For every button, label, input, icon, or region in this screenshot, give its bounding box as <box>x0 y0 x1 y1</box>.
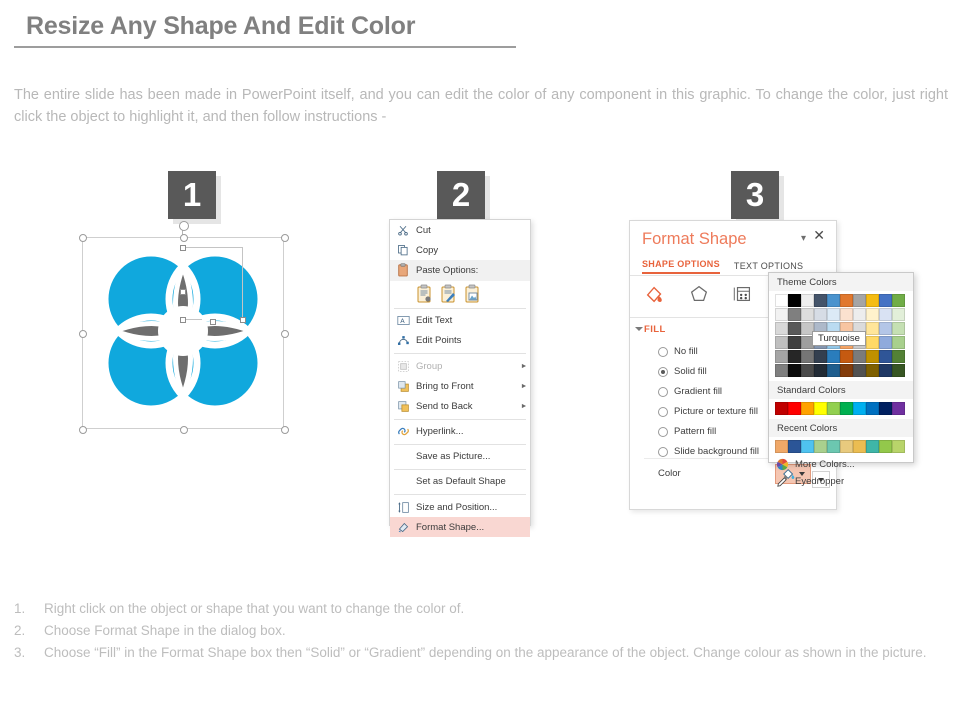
resize-handle-sw[interactable] <box>79 426 87 434</box>
theme-color-swatch[interactable] <box>879 308 892 321</box>
menu-divider <box>394 419 526 420</box>
recent-color-swatch[interactable] <box>879 440 892 453</box>
fill-option-label: Pattern fill <box>674 426 716 437</box>
standard-color-swatch[interactable] <box>840 402 853 415</box>
menu-divider <box>394 308 526 309</box>
resize-handle-nw[interactable] <box>79 234 87 242</box>
chevron-right-icon: ► <box>518 403 530 410</box>
send-to-back-icon <box>390 396 416 416</box>
edit-points-icon <box>390 331 416 351</box>
paste-options-icon-row[interactable] <box>390 281 530 306</box>
adjust-guide-right <box>242 247 243 319</box>
selected-shape-area[interactable] <box>82 237 284 429</box>
menu-item-size-and-position[interactable]: Size and Position... <box>390 497 530 517</box>
format-shape-icon <box>390 517 416 537</box>
menu-item-label: Hyperlink... <box>416 426 530 437</box>
radio-icon[interactable] <box>658 347 668 357</box>
fill-and-line-icon[interactable] <box>644 283 666 310</box>
eyedropper-item[interactable]: Eyedropper <box>769 473 913 490</box>
paste-picture-icon[interactable] <box>464 284 481 303</box>
menu-divider <box>394 494 526 495</box>
standard-color-swatch[interactable] <box>892 402 905 415</box>
theme-color-swatch[interactable] <box>892 336 905 349</box>
eyedropper-label: Eyedropper <box>795 476 844 487</box>
menu-item-send-to-back[interactable]: Send to Back ► <box>390 396 530 416</box>
adjust-handle-center[interactable] <box>180 317 186 323</box>
theme-color-swatch[interactable] <box>814 364 827 377</box>
resize-handle-e[interactable] <box>281 330 289 338</box>
radio-icon[interactable] <box>658 387 668 397</box>
copy-icon <box>390 240 416 260</box>
theme-color-swatch[interactable] <box>853 294 866 307</box>
radio-icon-selected[interactable] <box>658 367 668 377</box>
instruction-item: 2. Choose Format Shape in the dialog box… <box>14 620 944 642</box>
theme-color-swatch[interactable] <box>801 350 814 363</box>
menu-item-label: Send to Back <box>416 401 518 412</box>
recent-color-swatch[interactable] <box>788 440 801 453</box>
standard-color-swatch[interactable] <box>788 402 801 415</box>
standard-color-swatch[interactable] <box>827 402 840 415</box>
size-and-properties-icon[interactable] <box>732 283 754 310</box>
theme-color-swatch[interactable] <box>827 364 840 377</box>
size-position-icon <box>390 497 416 517</box>
theme-color-swatch[interactable] <box>801 308 814 321</box>
theme-colors-header: Theme Colors <box>769 273 913 291</box>
resize-handle-se[interactable] <box>281 426 289 434</box>
theme-color-swatch[interactable] <box>788 294 801 307</box>
recent-color-swatch[interactable] <box>814 440 827 453</box>
recent-color-swatch[interactable] <box>775 440 788 453</box>
no-icon <box>390 472 416 492</box>
effects-icon[interactable] <box>688 283 710 310</box>
theme-color-swatch[interactable] <box>879 350 892 363</box>
theme-color-swatch[interactable] <box>801 364 814 377</box>
color-tooltip: Turquoise <box>812 331 866 346</box>
menu-item-copy[interactable]: Copy <box>390 240 530 260</box>
menu-divider <box>394 444 526 445</box>
more-colors-label: More Colors... <box>795 459 855 470</box>
menu-item-label: Bring to Front <box>416 381 518 392</box>
theme-color-swatch[interactable] <box>788 350 801 363</box>
title-underline <box>14 46 516 48</box>
theme-color-swatch[interactable] <box>788 336 801 349</box>
theme-color-swatch[interactable] <box>879 364 892 377</box>
standard-color-swatch[interactable] <box>853 402 866 415</box>
step-badge-1: 1 <box>168 171 216 219</box>
menu-item-format-shape[interactable]: Format Shape... <box>390 517 530 537</box>
menu-item-label: Copy <box>416 245 530 256</box>
theme-color-swatch[interactable] <box>866 322 879 335</box>
format-pane-toolbar[interactable] <box>644 283 754 310</box>
instruction-number: 2. <box>14 620 44 642</box>
standard-color-swatch[interactable] <box>879 402 892 415</box>
theme-color-swatch[interactable] <box>879 336 892 349</box>
menu-item-set-as-default-shape[interactable]: Set as Default Shape <box>390 472 530 492</box>
theme-color-swatch[interactable] <box>788 308 801 321</box>
theme-color-swatch[interactable] <box>840 364 853 377</box>
group-icon <box>390 356 416 376</box>
hyperlink-icon <box>390 422 416 442</box>
adjust-handle-right[interactable] <box>240 317 246 323</box>
fill-option-label: Picture or texture fill <box>674 406 758 417</box>
tab-shape-options[interactable]: SHAPE OPTIONS <box>642 259 720 274</box>
standard-colors-header: Standard Colors <box>769 381 913 399</box>
bring-to-front-icon <box>390 376 416 396</box>
standard-color-swatch[interactable] <box>801 402 814 415</box>
step-badge-2: 2 <box>437 171 485 219</box>
rotation-handle[interactable] <box>179 221 189 231</box>
context-menu[interactable]: Cut Copy Paste Options: A Edit Text <box>389 219 531 526</box>
no-icon <box>390 447 416 467</box>
theme-color-swatch[interactable] <box>892 308 905 321</box>
collapse-triangle-icon[interactable] <box>635 327 643 331</box>
theme-color-swatch[interactable] <box>827 294 840 307</box>
menu-item-label: Save as Picture... <box>416 451 530 462</box>
intro-paragraph: The entire slide has been made in PowerP… <box>14 84 948 128</box>
theme-color-swatch[interactable] <box>866 364 879 377</box>
color-row-label: Color <box>658 468 681 479</box>
resize-handle-w[interactable] <box>79 330 87 338</box>
resize-handle-s[interactable] <box>180 426 188 434</box>
theme-color-swatch[interactable] <box>814 350 827 363</box>
fill-option-label: Solid fill <box>674 366 707 377</box>
theme-color-swatch[interactable] <box>788 322 801 335</box>
more-colors-item[interactable]: More Colors... <box>769 456 913 473</box>
recent-color-swatch[interactable] <box>801 440 814 453</box>
theme-color-swatch[interactable] <box>866 336 879 349</box>
menu-item-edit-points[interactable]: Edit Points <box>390 331 530 351</box>
theme-color-swatch[interactable] <box>892 350 905 363</box>
theme-color-swatch[interactable] <box>775 322 788 335</box>
paste-keep-source-formatting-icon[interactable] <box>416 284 433 303</box>
menu-item-label: Edit Points <box>416 335 530 346</box>
theme-color-swatch[interactable] <box>775 350 788 363</box>
theme-color-swatch[interactable] <box>814 294 827 307</box>
theme-color-swatch[interactable] <box>892 294 905 307</box>
menu-item-edit-text[interactable]: A Edit Text <box>390 311 530 331</box>
instruction-number: 1. <box>14 598 44 620</box>
svg-text:A: A <box>400 317 405 325</box>
fill-option-label: No fill <box>674 346 698 357</box>
fill-option-no-fill[interactable]: No fill <box>658 346 698 357</box>
fill-option-slide-background-fill[interactable]: Slide background fill <box>658 446 759 457</box>
adjust-handle-leaf-right[interactable] <box>210 319 216 325</box>
theme-color-swatch[interactable] <box>892 322 905 335</box>
fill-option-picture-or-texture-fill[interactable]: Picture or texture fill <box>658 406 758 417</box>
theme-color-swatch[interactable] <box>827 308 840 321</box>
fill-option-solid-fill[interactable]: Solid fill <box>658 366 707 377</box>
eyedropper-icon <box>775 475 789 488</box>
adjust-handle-top[interactable] <box>180 245 186 251</box>
resize-handle-ne[interactable] <box>281 234 289 242</box>
menu-item-label: Edit Text <box>416 315 530 326</box>
format-pane-title: Format Shape <box>642 230 747 249</box>
radio-icon[interactable] <box>658 427 668 437</box>
radio-icon[interactable] <box>658 447 668 457</box>
menu-item-cut[interactable]: Cut <box>390 220 530 240</box>
scissors-icon <box>390 220 416 240</box>
menu-item-label: Cut <box>416 225 530 236</box>
chevron-down-icon[interactable]: ▾ <box>801 233 806 244</box>
menu-item-label: Paste Options: <box>416 265 530 276</box>
instruction-number: 3. <box>14 642 44 664</box>
theme-color-swatch[interactable] <box>775 294 788 307</box>
standard-color-swatch[interactable] <box>866 402 879 415</box>
menu-divider <box>394 469 526 470</box>
theme-color-swatch[interactable] <box>892 364 905 377</box>
menu-item-label: Size and Position... <box>416 502 530 513</box>
theme-color-swatch[interactable] <box>866 294 879 307</box>
recent-colors-grid[interactable] <box>769 437 913 453</box>
recent-color-swatch[interactable] <box>853 440 866 453</box>
recent-color-swatch[interactable] <box>827 440 840 453</box>
menu-divider <box>394 353 526 354</box>
theme-color-swatch[interactable] <box>853 308 866 321</box>
theme-color-swatch[interactable] <box>788 364 801 377</box>
menu-item-paste-options[interactable]: Paste Options: <box>390 260 530 280</box>
menu-item-hyperlink[interactable]: Hyperlink... <box>390 422 530 442</box>
theme-color-swatch[interactable] <box>775 308 788 321</box>
active-tool-caret <box>652 310 666 317</box>
adjust-guide-top <box>182 247 242 248</box>
fill-option-pattern-fill[interactable]: Pattern fill <box>658 426 716 437</box>
theme-color-swatch[interactable] <box>827 350 840 363</box>
instructions-list: 1. Right click on the object or shape th… <box>14 598 944 664</box>
theme-color-swatch[interactable] <box>840 308 853 321</box>
theme-color-swatch[interactable] <box>840 294 853 307</box>
menu-item-label: Group <box>416 361 518 372</box>
instruction-text: Choose Format Shape in the dialog box. <box>44 620 944 642</box>
recent-color-swatch[interactable] <box>866 440 879 453</box>
chevron-right-icon: ► <box>518 383 530 390</box>
menu-item-group[interactable]: Group ► <box>390 356 530 376</box>
menu-item-label: Format Shape... <box>416 522 530 533</box>
step-badge-3: 3 <box>731 171 779 219</box>
color-picker-dropdown[interactable]: Theme Colors Standard Colors Recent Colo… <box>768 272 914 463</box>
instruction-text: Choose “Fill” in the Format Shape box th… <box>44 642 944 664</box>
four-petal-flower-graphic[interactable] <box>89 241 277 423</box>
fill-option-label: Gradient fill <box>674 386 722 397</box>
instruction-text: Right click on the object or shape that … <box>44 598 944 620</box>
paste-use-destination-theme-icon[interactable] <box>440 284 457 303</box>
recent-color-swatch[interactable] <box>840 440 853 453</box>
theme-color-swatch[interactable] <box>879 322 892 335</box>
fill-section-title: FILL <box>644 324 666 335</box>
close-icon[interactable]: ✕ <box>813 228 825 242</box>
chevron-right-icon: ► <box>518 363 530 370</box>
theme-color-swatch[interactable] <box>775 364 788 377</box>
flower-center <box>158 306 208 356</box>
theme-color-swatch[interactable] <box>801 294 814 307</box>
fill-option-gradient-fill[interactable]: Gradient fill <box>658 386 722 397</box>
adjust-handle-leaf-top[interactable] <box>180 289 186 295</box>
theme-color-swatch[interactable] <box>853 350 866 363</box>
theme-color-swatch[interactable] <box>840 350 853 363</box>
theme-color-swatch[interactable] <box>853 364 866 377</box>
theme-color-swatch[interactable] <box>879 294 892 307</box>
instruction-item: 3. Choose “Fill” in the Format Shape box… <box>14 642 944 664</box>
menu-item-bring-to-front[interactable]: Bring to Front ► <box>390 376 530 396</box>
radio-icon[interactable] <box>658 407 668 417</box>
instruction-item: 1. Right click on the object or shape th… <box>14 598 944 620</box>
recent-color-swatch[interactable] <box>892 440 905 453</box>
color-wheel-icon <box>775 458 789 471</box>
standard-color-swatch[interactable] <box>775 402 788 415</box>
page-title: Resize Any Shape And Edit Color <box>26 12 415 41</box>
menu-item-save-as-picture[interactable]: Save as Picture... <box>390 447 530 467</box>
standard-color-swatch[interactable] <box>814 402 827 415</box>
menu-item-label: Set as Default Shape <box>416 476 530 487</box>
clipboard-icon <box>390 260 416 280</box>
edit-text-icon: A <box>390 311 416 331</box>
fill-option-label: Slide background fill <box>674 446 759 457</box>
theme-color-swatch[interactable] <box>866 350 879 363</box>
theme-color-swatch[interactable] <box>775 336 788 349</box>
theme-color-swatch[interactable] <box>814 308 827 321</box>
standard-colors-grid[interactable] <box>769 399 913 415</box>
recent-colors-header: Recent Colors <box>769 419 913 437</box>
theme-color-swatch[interactable] <box>866 308 879 321</box>
